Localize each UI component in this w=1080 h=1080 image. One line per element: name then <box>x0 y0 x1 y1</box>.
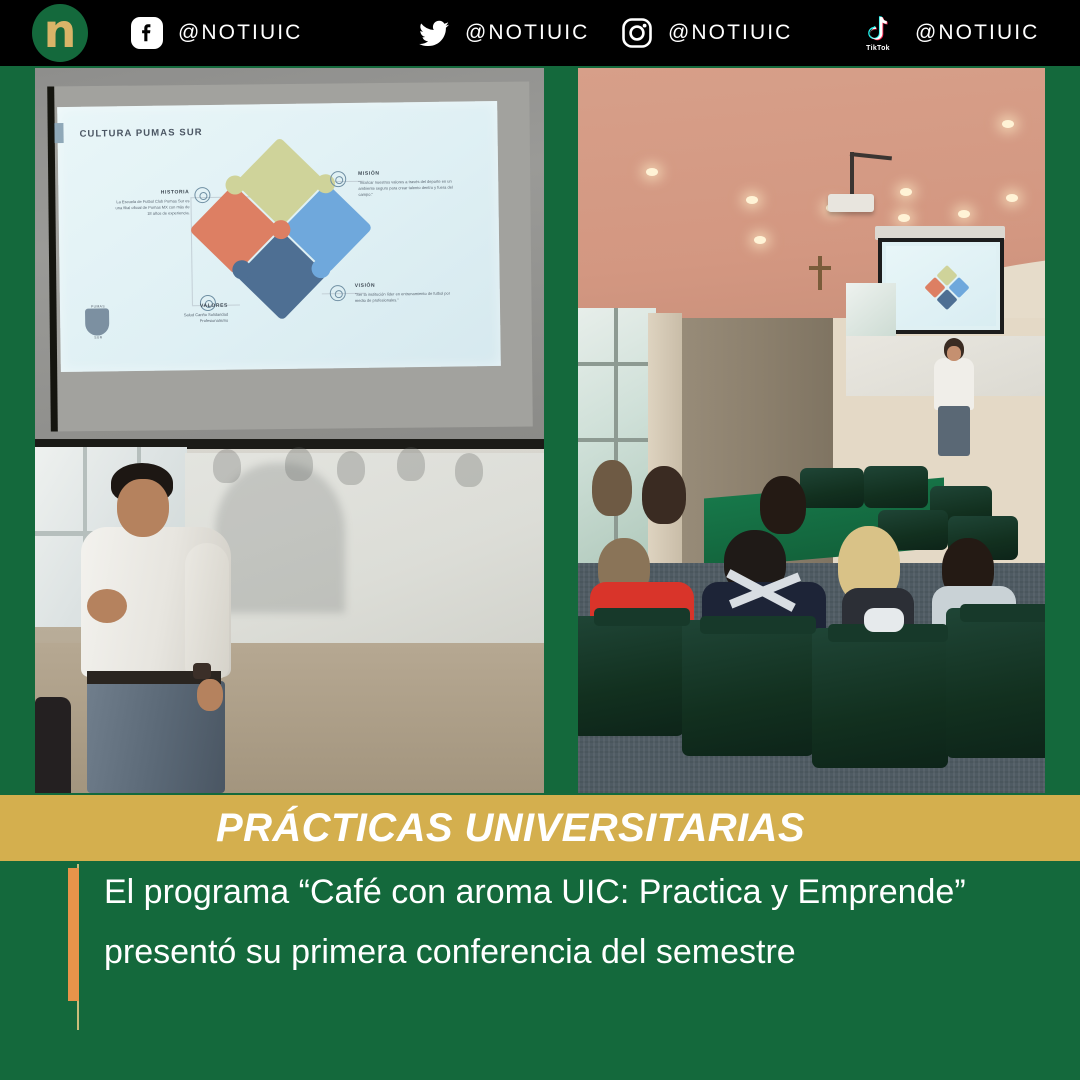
audience-member <box>582 460 642 534</box>
caption-line-1: El programa “Café con aroma UIC: Practic… <box>104 863 1034 923</box>
instagram-icon <box>620 16 654 50</box>
ceiling-light <box>1006 194 1018 202</box>
tiktok-icon: TikTok <box>855 14 901 52</box>
logo-letter: n <box>44 8 77 54</box>
speaker-photo-background <box>35 439 544 793</box>
projector-mount-pole <box>850 152 854 198</box>
facebook-icon <box>130 16 164 50</box>
audience-shoe <box>864 608 904 632</box>
tiktok-handle: @NOTIUIC <box>915 21 1039 45</box>
slide-section-vision: VISIÓN "Ser la institución líder en entr… <box>355 282 455 304</box>
ceiling-projector <box>828 194 874 212</box>
speaker-shirt <box>934 358 974 410</box>
puzzle-graphic-mini <box>923 265 971 313</box>
person-hair <box>760 476 806 534</box>
chair-armrest <box>960 604 1045 622</box>
slide-section-mision: MISIÓN "Inculcar nuestros valores a trav… <box>358 169 462 197</box>
speaker-face <box>947 346 961 361</box>
slide-section-heading: HISTORIA <box>113 189 189 197</box>
ceiling-light <box>1002 120 1014 128</box>
slide-photo-background: CULTURA PUMAS SUR <box>35 68 544 439</box>
tiktok-wordmark: TikTok <box>866 45 890 52</box>
speaker-arm <box>185 543 229 679</box>
slide-section-body: La Escuela de Futbol Club Pumas Sur es u… <box>116 198 190 215</box>
notiuic-circle-logo: n <box>32 4 88 62</box>
pumas-sur-crest: PUMAS SUR <box>85 304 111 338</box>
clock-icon <box>194 187 210 203</box>
speaker-watch <box>193 663 211 679</box>
ceiling-light <box>646 168 658 176</box>
page-title: PRÁCTICAS UNIVERSITARIAS <box>216 808 805 848</box>
slide-section-body: "Inculcar nuestros valores a través del … <box>358 179 453 197</box>
slide-section-body: "Ser la institución líder en entrenamien… <box>355 291 450 303</box>
audience-member <box>636 466 692 536</box>
instagram-handle: @NOTIUIC <box>668 21 792 45</box>
eye-icon <box>330 285 346 301</box>
backpack <box>35 697 71 793</box>
speaker-at-front <box>928 338 980 456</box>
crest-label-bottom: SUR <box>85 335 111 339</box>
connector-line <box>190 197 193 305</box>
ceiling-light <box>746 196 758 204</box>
slide-section-historia: HISTORIA La Escuela de Futbol Club Pumas… <box>113 189 189 217</box>
slide-section-heading: VISIÓN <box>355 282 455 291</box>
auditorium-chair <box>682 620 814 756</box>
slide-section-heading: MISIÓN <box>358 169 462 178</box>
speaker-hand <box>197 679 223 711</box>
tiktok-note-icon <box>861 14 895 44</box>
speaker-hand <box>87 589 127 623</box>
speaker-face <box>117 479 169 537</box>
shoe <box>864 608 904 632</box>
photo-collage: CULTURA PUMAS SUR <box>0 66 1080 795</box>
headline-band: PRÁCTICAS UNIVERSITARIAS <box>0 795 1080 861</box>
ceiling-light <box>754 236 766 244</box>
social-link-twitter[interactable]: @NOTIUIC <box>417 0 589 66</box>
slide-section-valores: VALORES Salud Cariño Solidaridad Profesi… <box>170 303 228 325</box>
person-hair <box>592 460 632 516</box>
slide-accent-tab <box>54 123 63 143</box>
social-topbar: n @NOTIUIC @NOTIUIC <box>0 0 1080 66</box>
chair-armrest <box>594 608 690 626</box>
facebook-handle: @NOTIUIC <box>178 21 302 45</box>
speaker-pants <box>938 406 970 456</box>
social-link-tiktok[interactable]: TikTok @NOTIUIC <box>855 0 1039 66</box>
silhouette <box>337 451 365 485</box>
caption-line-2: presentó su primera conferencia del seme… <box>104 923 1034 983</box>
slide-section-heading: VALORES <box>170 303 228 311</box>
caption-text: El programa “Café con aroma UIC: Practic… <box>104 863 1034 982</box>
target-icon <box>330 171 346 187</box>
projection-screen <box>878 238 1004 334</box>
person-hair <box>642 466 686 524</box>
poster-root: n @NOTIUIC @NOTIUIC <box>0 0 1080 1080</box>
caption-accent-bar <box>68 868 79 1001</box>
ceiling-light <box>958 210 970 218</box>
photo-auditorium <box>578 68 1045 793</box>
auditorium-photo-background <box>578 68 1045 793</box>
auditorium-chair <box>864 466 928 508</box>
projected-slide-thumbnail <box>886 246 996 326</box>
crest-shield <box>85 308 109 335</box>
presentation-slide: CULTURA PUMAS SUR <box>57 101 501 372</box>
twitter-icon <box>417 16 451 50</box>
chair-armrest <box>700 616 816 634</box>
twitter-handle: @NOTIUIC <box>465 21 589 45</box>
social-link-facebook[interactable]: @NOTIUIC <box>130 0 302 66</box>
crucifix-crossbar <box>809 266 831 270</box>
auditorium-chair <box>812 628 948 768</box>
photo-speaker <box>35 439 544 793</box>
social-link-instagram[interactable]: @NOTIUIC <box>620 0 792 66</box>
social-handles-row: @NOTIUIC @NOTIUIC @NOTIUIC <box>130 0 1080 66</box>
speaker-figure <box>81 463 241 793</box>
auditorium-chair <box>578 616 684 736</box>
photo-slide-projection: CULTURA PUMAS SUR <box>35 68 544 439</box>
slide-section-body: Salud Cariño Solidaridad Profesionalismo <box>184 312 228 323</box>
silhouette <box>397 447 425 481</box>
ceiling-light <box>900 188 912 196</box>
silhouette <box>455 453 483 487</box>
crucifix-icon <box>818 256 822 290</box>
slide-title: CULTURA PUMAS SUR <box>79 127 202 140</box>
auditorium-chair <box>946 608 1045 758</box>
caption-section: El programa “Café con aroma UIC: Practic… <box>0 861 1080 1080</box>
ceiling-light <box>898 214 910 222</box>
